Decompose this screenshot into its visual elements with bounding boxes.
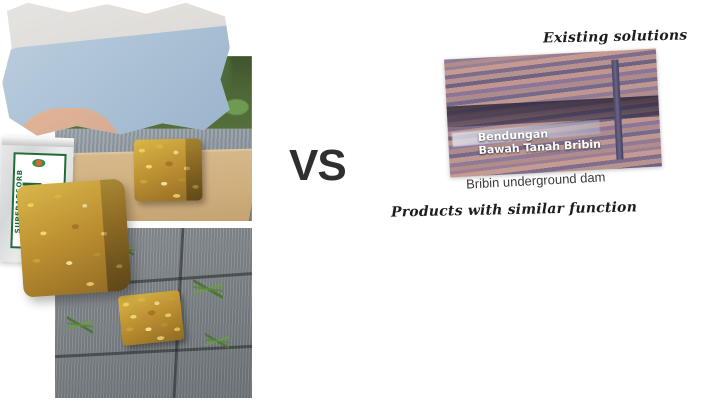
dam-banner-text: Bendungan Bawah Tanah Bribin: [478, 126, 602, 158]
product-block-small-top: [133, 138, 202, 201]
vs-label: VS: [289, 141, 346, 191]
photo-water-storing-crystals: Water Storing Crystals: [0, 0, 232, 137]
brand-logo-icon: [32, 159, 45, 168]
photo-bribin-underground-dam: Bendungan Bawah Tanah Bribin: [444, 49, 662, 178]
pouch-top-seal: [2, 136, 74, 147]
product-block-closeup: [16, 178, 132, 297]
product-block-small-bottom: [118, 289, 185, 345]
heading-existing-solutions: Existing solutions: [543, 27, 688, 46]
block-shaded-face: [185, 138, 202, 200]
comparison-slide: Our Product Existing solutions Products …: [0, 0, 720, 414]
soil-and-crystal-mix: [248, 242, 486, 367]
grass-tuft: [193, 279, 223, 299]
heading-products-with-similar-function: Products with similar function: [391, 199, 637, 220]
grass-tuft: [205, 333, 229, 349]
grass-tuft: [67, 316, 93, 334]
